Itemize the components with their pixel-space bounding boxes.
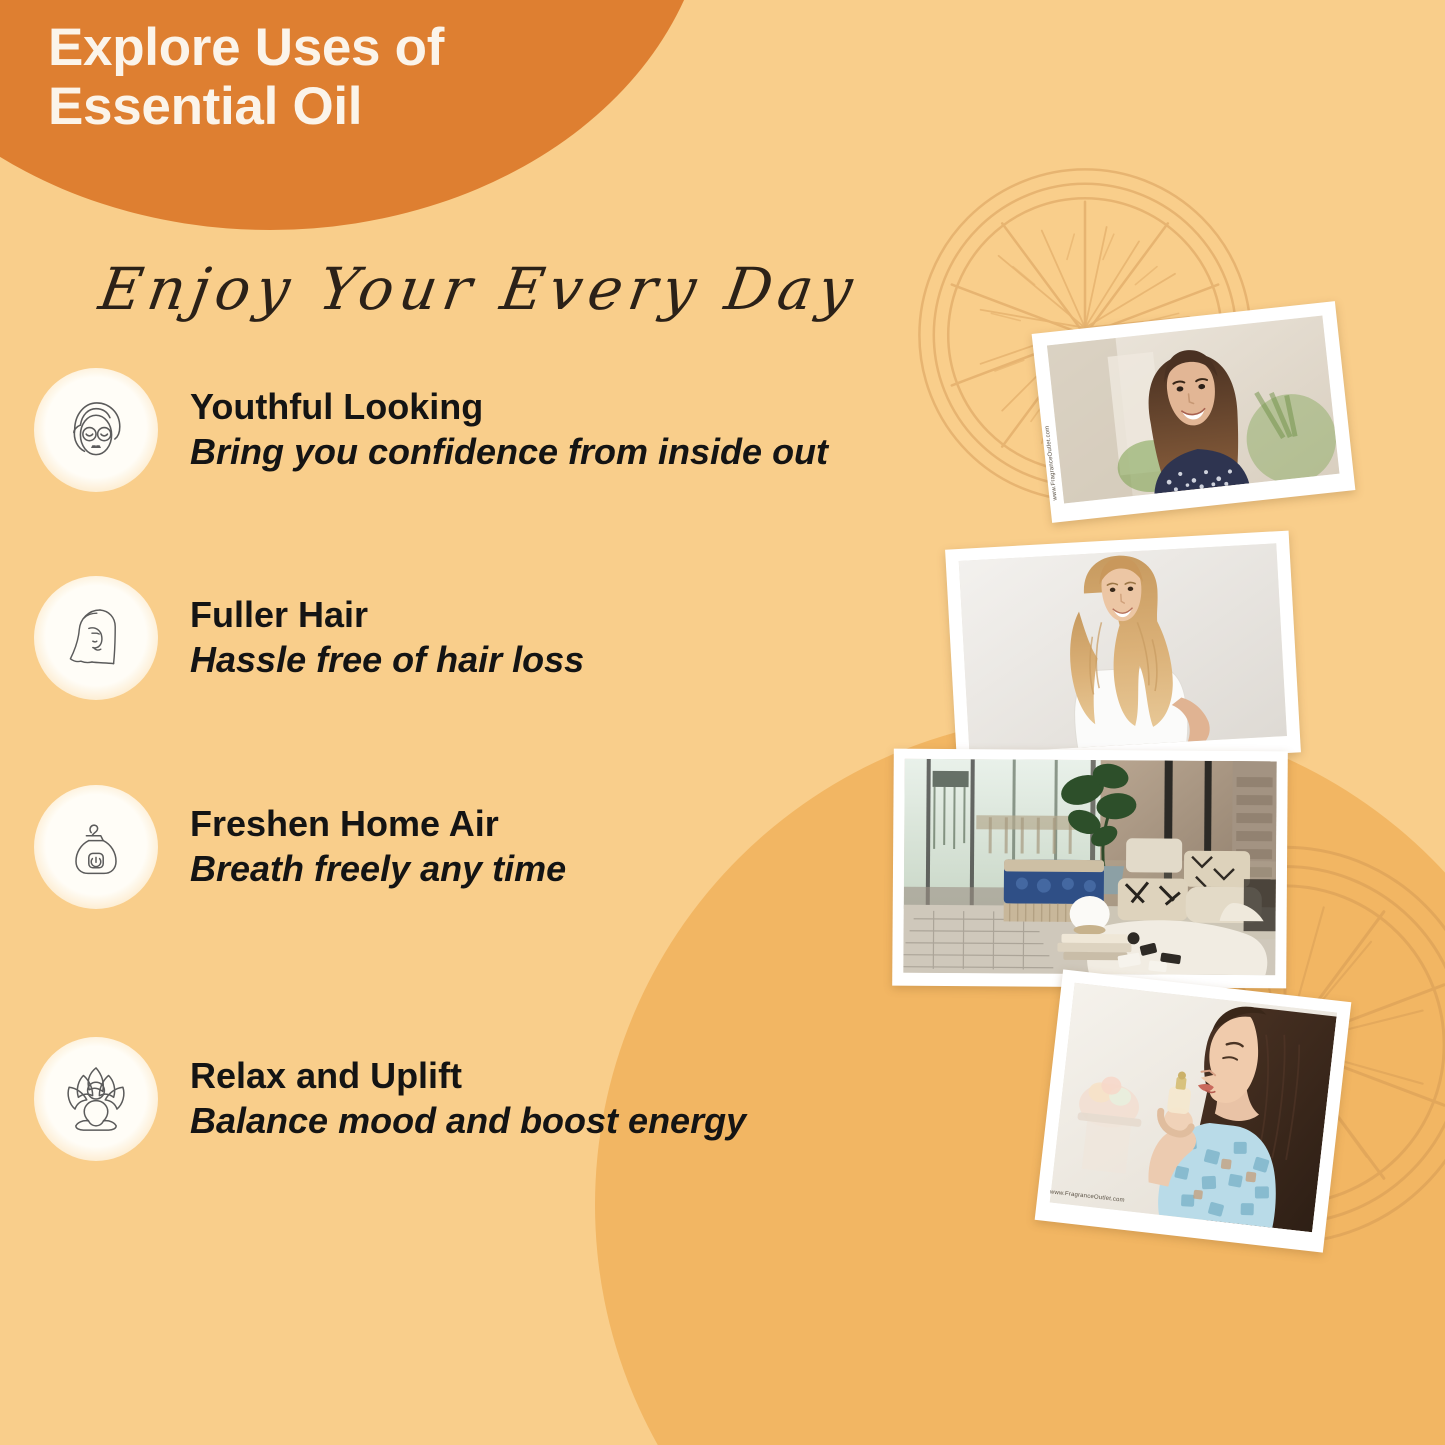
long-hair-profile-icon [34,576,158,700]
feature-title: Fuller Hair [190,593,584,636]
feature-item-youthful-looking: Youthful Looking Bring you confidence fr… [34,368,828,492]
photo-image [959,543,1287,753]
face-mask-icon [34,368,158,492]
feature-subtitle: Breath freely any time [190,847,566,892]
feature-title: Youthful Looking [190,385,828,428]
feature-text: Relax and Uplift Balance mood and boost … [190,1054,746,1144]
feature-item-relax-and-uplift: Relax and Uplift Balance mood and boost … [34,1037,746,1161]
feature-title: Relax and Uplift [190,1054,746,1097]
lotus-meditation-icon [34,1037,158,1161]
feature-item-fuller-hair: Fuller Hair Hassle free of hair loss [34,576,584,700]
feature-text: Fuller Hair Hassle free of hair loss [190,593,584,683]
feature-subtitle: Bring you confidence from inside out [190,430,828,475]
photo-image [1047,316,1340,504]
feature-text: Youthful Looking Bring you confidence fr… [190,385,828,475]
photo-woman-smiling: www.FragranceOutlet.com [1032,301,1356,523]
feature-item-freshen-home-air: Freshen Home Air Breath freely any time [34,785,566,909]
feature-text: Freshen Home Air Breath freely any time [190,802,566,892]
aroma-diffuser-icon [34,785,158,909]
feature-subtitle: Hassle free of hair loss [190,638,584,683]
photo-woman-long-hair [945,531,1301,772]
feature-title: Freshen Home Air [190,802,566,845]
feature-subtitle: Balance mood and boost energy [190,1099,746,1144]
photo-woman-perfume: www.FragranceOutlet.com [1035,969,1352,1252]
photo-image [903,759,1276,976]
photo-living-room [892,749,1288,989]
